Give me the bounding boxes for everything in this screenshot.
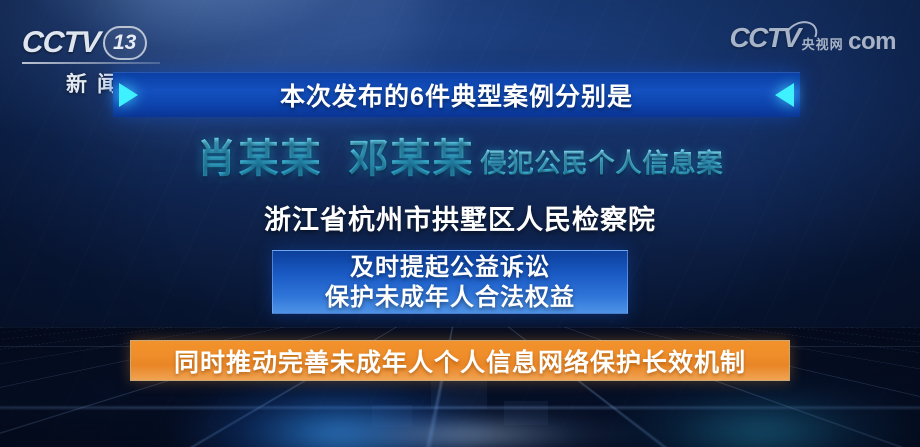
case-party-two: 邓某某: [348, 126, 474, 184]
channel-number: 13: [113, 31, 136, 55]
highlight-orange-banner: 同时推动完善未成年人个人信息网络保护长效机制: [130, 340, 790, 381]
summary-blue-box: 及时提起公益诉讼 保护未成年人合法权益: [272, 250, 628, 314]
prosecuting-organization: 浙江省杭州市拱墅区人民检察院: [0, 198, 920, 237]
case-charge-label: 侵犯公民个人信息案: [480, 143, 723, 180]
watermark-domain-text: com: [848, 28, 896, 55]
case-party-one: 肖某某: [196, 126, 322, 184]
summary-line-one: 及时提起公益诉讼: [350, 253, 550, 282]
case-title-line: 肖某某 邓某某 侵犯公民个人信息案: [0, 126, 920, 184]
channel-number-badge: 13: [103, 26, 147, 60]
play-triangle-left-icon: [775, 83, 794, 107]
broadcast-screen: CCTV 13 新闻 CCTV 央视网 com 本次发布的6件典型案例分别是 肖…: [0, 0, 920, 447]
cctv-com-watermark: CCTV 央视网 com: [729, 22, 896, 54]
logo-underline: [22, 62, 160, 64]
headline-banner: 本次发布的6件典型案例分别是: [113, 72, 800, 117]
cctv-wordmark: CCTV: [21, 26, 100, 60]
headline-text: 本次发布的6件典型案例分别是: [280, 77, 633, 113]
play-triangle-right-icon: [119, 83, 138, 107]
summary-line-two: 保护未成年人合法权益: [325, 283, 575, 312]
highlight-banner-text: 同时推动完善未成年人个人信息网络保护长效机制: [174, 343, 746, 379]
channel-logo-row: CCTV 13: [22, 26, 162, 60]
